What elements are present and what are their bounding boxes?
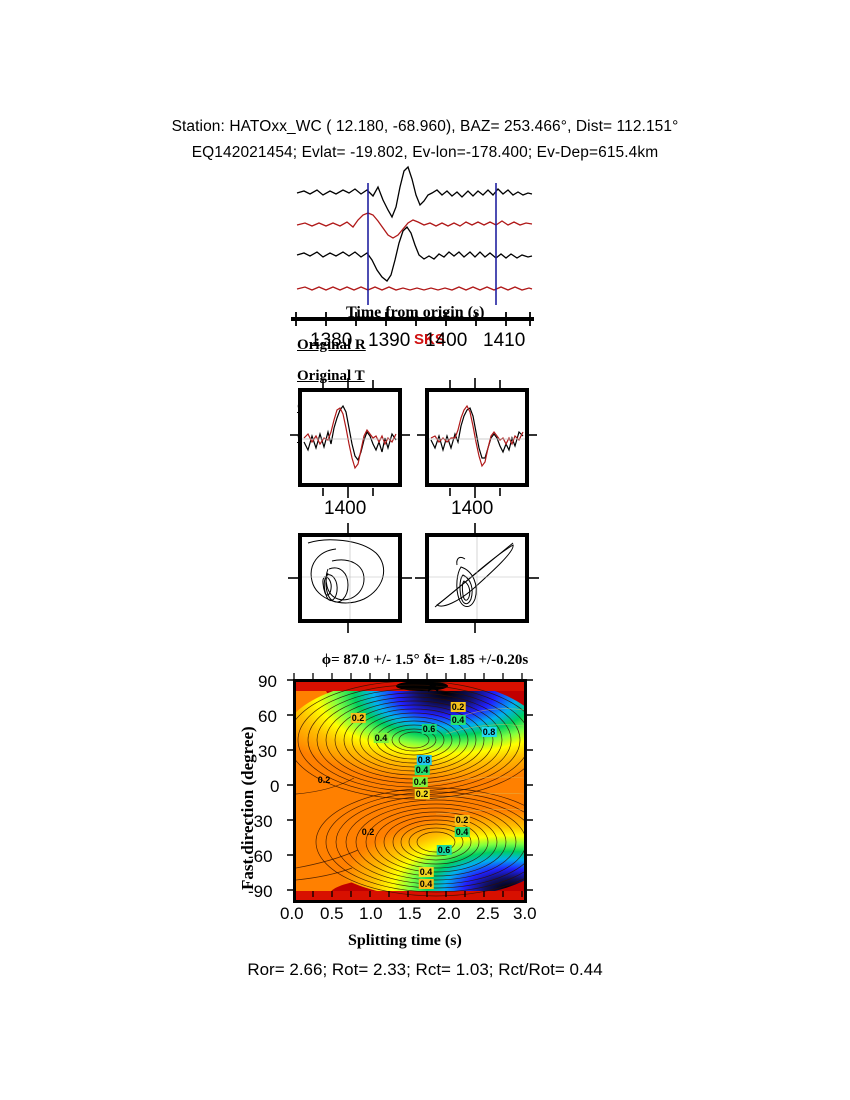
- contour-ytick-0: 0: [270, 777, 279, 797]
- particle-motion-left-ticks: [288, 523, 412, 635]
- time-tick-1390: 1390: [368, 330, 410, 352]
- contour-xlabel: Splitting time (s): [348, 932, 462, 950]
- contour-title: ϕ= 87.0 +/- 1.5° δt= 1.85 +/-0.20s: [0, 652, 850, 669]
- header-line-station: Station: HATOxx_WC ( 12.180, -68.960), B…: [0, 118, 850, 136]
- contour-axes: [283, 669, 539, 915]
- contour-xtick-1.5: 1.5: [398, 904, 422, 924]
- comparison-left-ticks: [288, 378, 412, 500]
- contour-xtick-2.5: 2.5: [476, 904, 500, 924]
- comparison-right-ticks: [415, 378, 539, 500]
- header-line-event: EQ142021454; Evlat= -19.802, Ev-lon=-178…: [0, 144, 850, 162]
- contour-xtick-3.0: 3.0: [513, 904, 537, 924]
- particle-motion-right-ticks: [415, 523, 539, 635]
- comparison-left-tick-label: 1400: [324, 498, 366, 520]
- contour-xtick-1.0: 1.0: [359, 904, 383, 924]
- waveform-panel: Original R Original T Corrected R Correc…: [0, 165, 850, 315]
- contour-ytick-30: 30: [258, 742, 277, 762]
- contour-xtick-0.0: 0.0: [280, 904, 304, 924]
- time-tick-1400: 1400: [425, 330, 467, 352]
- time-tick-1380: 1380: [310, 330, 352, 352]
- time-tick-1410: 1410: [483, 330, 525, 352]
- contour-ytick-60: 60: [258, 707, 277, 727]
- time-axis: Time from origin (s) 1380 1390 1400 1410: [0, 300, 850, 360]
- contour-ytick-90: 90: [258, 672, 277, 692]
- contour-xtick-0.5: 0.5: [320, 904, 344, 924]
- contour-ylabel: Fast direction (degree): [238, 726, 258, 890]
- contour-xtick-2.0: 2.0: [437, 904, 461, 924]
- footer-stats: Ror= 2.66; Rot= 2.33; Rct= 1.03; Rct/Rot…: [0, 960, 850, 980]
- waveform-traces: [0, 165, 850, 315]
- time-axis-title: Time from origin (s): [346, 304, 485, 322]
- comparison-right-tick-label: 1400: [451, 498, 493, 520]
